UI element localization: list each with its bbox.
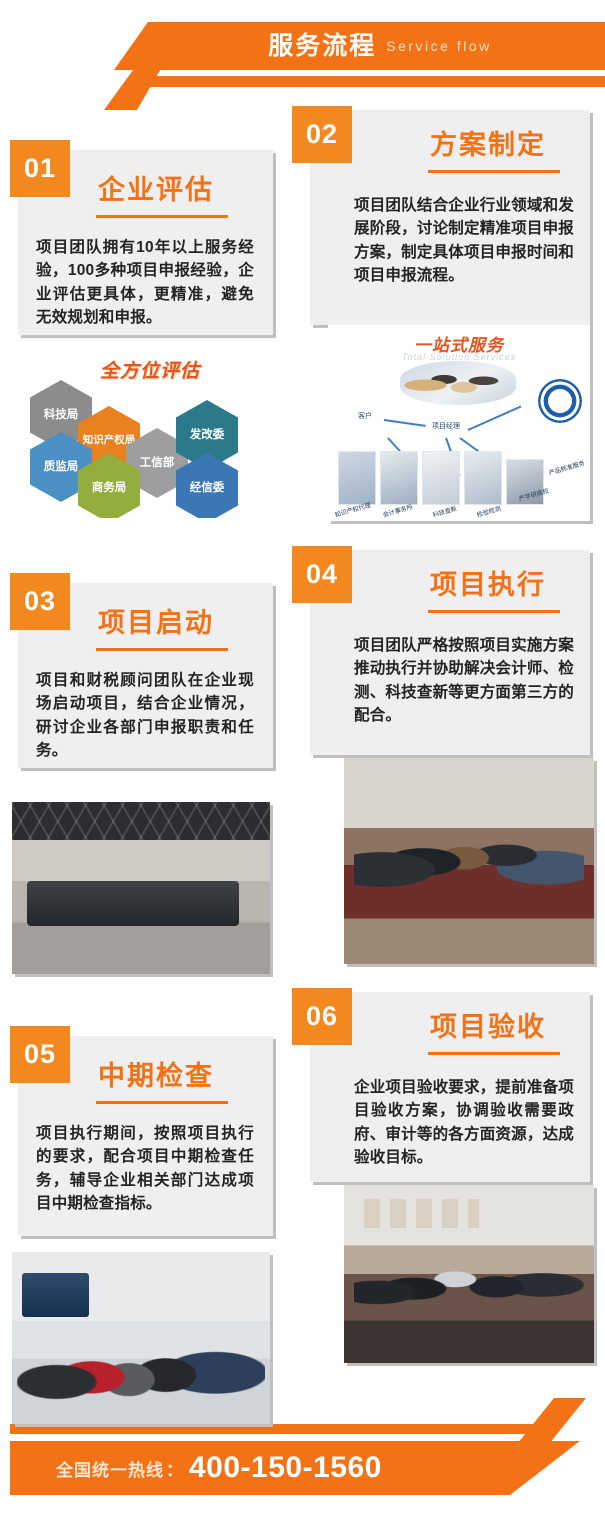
card-06-body: 企业项目验收要求，提前准备项目验收方案，协调验收需要政府、审计等的各方面资源，达… xyxy=(354,1076,574,1169)
card-02-number-badge: 02 xyxy=(292,106,352,163)
cards-grid: 01 企业评估 项目团队拥有10年以上服务经验，100多种项目申报经验，企业评估… xyxy=(0,0,605,1538)
photo-conference-table-image xyxy=(344,1185,594,1363)
card-01[interactable]: 01 企业评估 项目团队拥有10年以上服务经验，100多种项目申报经验，企业评估… xyxy=(18,150,273,335)
assessment-diagram: 全方位评估 科技局 知识产权局 质监局 工信部 商务局 发改委 经信委 xyxy=(18,348,273,518)
photo-meeting-room-image xyxy=(12,802,270,974)
photo-conference-table xyxy=(344,1185,594,1363)
card-01-number-badge: 01 xyxy=(10,140,70,197)
card-03-title-underline xyxy=(96,648,228,651)
card-01-body: 项目团队拥有10年以上服务经验，100多种项目申报经验，企业评估更具体，更精准，… xyxy=(36,236,254,329)
card-04-number-badge: 04 xyxy=(292,546,352,603)
one-stop-tile-2 xyxy=(380,451,418,505)
footer-hotline-colon: ： xyxy=(166,1456,183,1481)
one-stop-label-6: 产品标准服务 xyxy=(548,458,586,477)
card-02-title-underline xyxy=(428,170,560,173)
one-stop-node-manager: 项目经理 xyxy=(432,421,460,431)
card-02-body: 项目团队结合企业行业领域和发展阶段，讨论制定精准项目申报方案，制定具体项目申报时… xyxy=(354,194,574,287)
photo-team-laptops xyxy=(344,758,594,964)
one-stop-service-diagram: 一站式服务 Total Solution Services 客户 项目经理 知识… xyxy=(328,325,590,521)
card-06-number-badge: 06 xyxy=(292,988,352,1045)
one-stop-arrow-1 xyxy=(384,419,426,427)
one-stop-center-photo xyxy=(400,361,516,405)
card-06-title-underline xyxy=(428,1052,560,1055)
card-05[interactable]: 05 中期检查 项目执行期间，按照项目执行的要求，配合项目中期检查任务，辅导企业… xyxy=(18,1036,273,1236)
footer-band-head xyxy=(440,1441,580,1495)
one-stop-label-4: 检验检测 xyxy=(476,504,502,519)
card-01-title-underline xyxy=(96,215,228,218)
service-flow-infographic: 服务流程 Service flow 01 企业评估 项目团队拥有10年以上服务经… xyxy=(0,0,605,1538)
card-05-body: 项目执行期间，按照项目执行的要求，配合项目中期检查任务，辅导企业相关部门达成项目… xyxy=(36,1122,254,1215)
footer-stripe xyxy=(10,1424,456,1434)
card-04-title: 项目执行 xyxy=(430,572,546,599)
card-03-title: 项目启动 xyxy=(98,610,214,637)
card-05-title: 中期检查 xyxy=(98,1063,214,1090)
footer-hotline-group: 全国统一热线 ： 400-150-1560 xyxy=(56,1441,382,1495)
card-03-number-badge: 03 xyxy=(10,573,70,630)
photo-team-laptops-image xyxy=(344,758,594,964)
card-05-title-underline xyxy=(96,1101,228,1104)
photo-lobby-discussion xyxy=(12,1252,270,1424)
card-06-title: 项目验收 xyxy=(430,1014,546,1041)
card-02-title: 方案制定 xyxy=(430,132,546,159)
photo-lobby-discussion-image xyxy=(12,1252,270,1424)
one-stop-certificate-seal xyxy=(538,379,582,423)
footer-hotline-number: 400-150-1560 xyxy=(189,1451,382,1485)
card-02[interactable]: 02 方案制定 项目团队结合企业行业领域和发展阶段，讨论制定精准项目申报方案，制… xyxy=(310,110,590,325)
card-03-body: 项目和财税顾问团队在企业现场启动项目，结合企业情况，研讨企业各部门申报职责和任务… xyxy=(36,669,254,762)
card-03[interactable]: 03 项目启动 项目和财税顾问团队在企业现场启动项目，结合企业情况，研讨企业各部… xyxy=(18,583,273,768)
footer-hotline-label: 全国统一热线 xyxy=(56,1456,164,1481)
card-04[interactable]: 04 项目执行 项目团队严格按照项目实施方案推动执行并协助解决会计师、检测、科技… xyxy=(310,550,590,755)
one-stop-arrow-2 xyxy=(468,405,522,430)
card-01-title: 企业评估 xyxy=(98,177,214,204)
card-04-body: 项目团队严格按照项目实施方案推动执行并协助解决会计师、检测、科技查新等更方面第三… xyxy=(354,634,574,727)
one-stop-node-customer: 客户 xyxy=(358,411,372,421)
one-stop-label-3: 科技查新 xyxy=(432,504,458,519)
one-stop-tile-1 xyxy=(338,451,376,505)
card-05-number-badge: 05 xyxy=(10,1026,70,1083)
one-stop-tile-4 xyxy=(464,451,502,505)
one-stop-tile-3 xyxy=(422,451,460,505)
card-06[interactable]: 06 项目验收 企业项目验收要求，提前准备项目验收方案，协调验收需要政府、审计等… xyxy=(310,992,590,1182)
photo-meeting-room xyxy=(12,802,270,974)
hexagon-group: 科技局 知识产权局 质监局 工信部 商务局 发改委 经信委 xyxy=(18,348,273,518)
card-04-title-underline xyxy=(428,610,560,613)
